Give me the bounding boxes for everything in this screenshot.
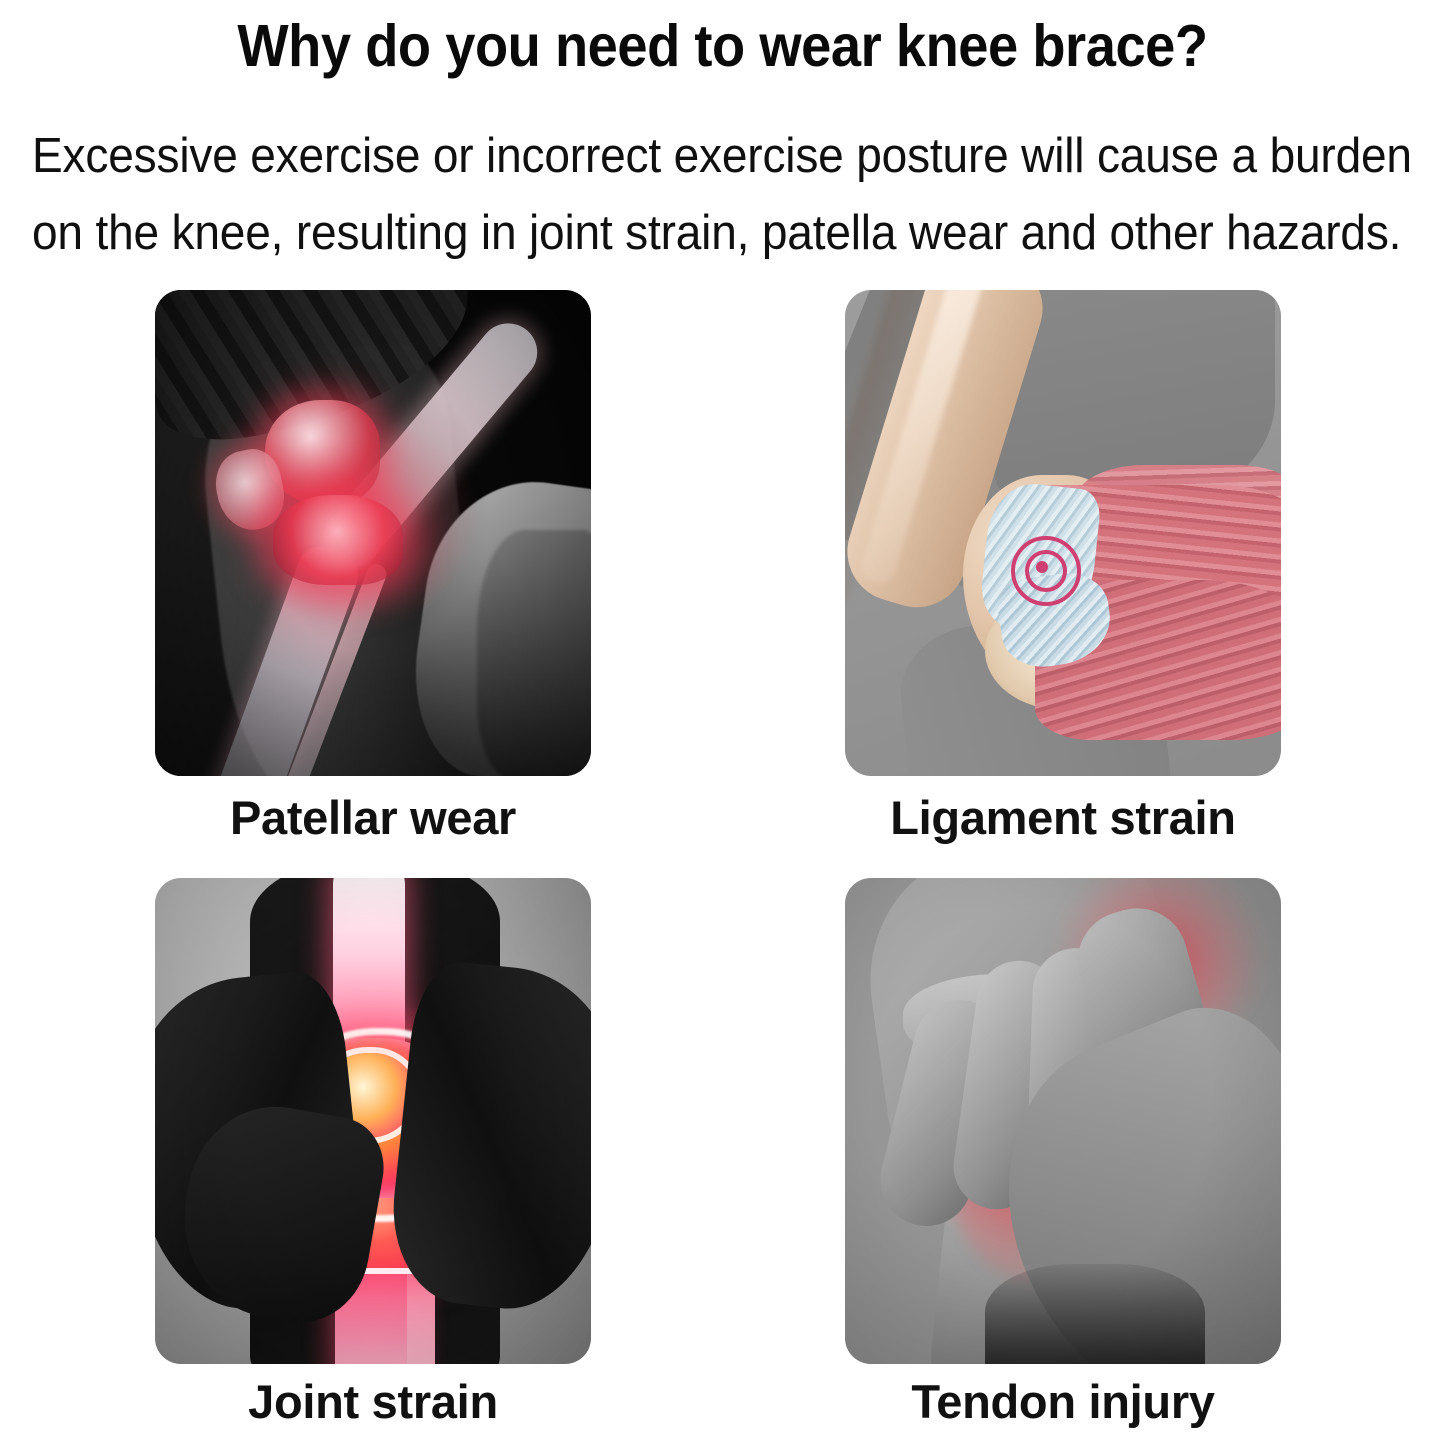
caption-tendon-injury: Tendon injury bbox=[805, 1374, 1321, 1429]
joint-strain-image bbox=[155, 878, 591, 1364]
grid-item-patellar-wear[interactable]: Patellar wear bbox=[155, 290, 591, 776]
condition-grid: Patellar wear Ligament strain bbox=[0, 0, 1445, 1445]
caption-patellar-wear: Patellar wear bbox=[115, 790, 631, 845]
tendon-injury-image-wrap[interactable]: Tendon injury bbox=[845, 878, 1281, 1364]
grid-item-ligament-strain[interactable]: Ligament strain bbox=[845, 290, 1281, 776]
tendon-injury-image bbox=[845, 878, 1281, 1364]
grid-item-joint-strain[interactable]: Joint strain bbox=[155, 878, 591, 1364]
caption-joint-strain: Joint strain bbox=[115, 1374, 631, 1429]
patellar-wear-image bbox=[155, 290, 591, 776]
ligament-strain-image bbox=[845, 290, 1281, 776]
pain-point-marker-icon bbox=[845, 290, 1281, 776]
infographic-page: Why do you need to wear knee brace? Exce… bbox=[0, 0, 1445, 1445]
caption-ligament-strain: Ligament strain bbox=[805, 790, 1321, 845]
